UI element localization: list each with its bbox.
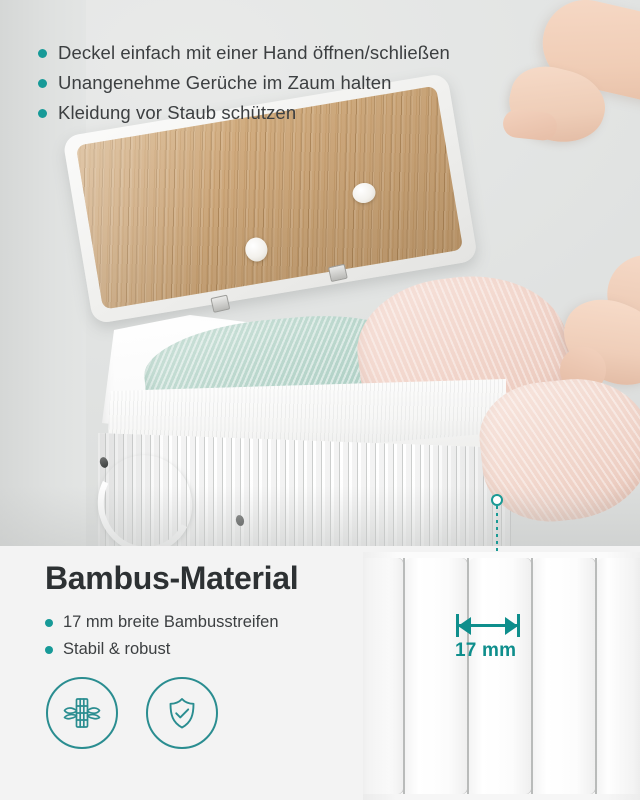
- dimension-label: 17 mm: [455, 640, 516, 662]
- bullet-item: Unangenehme Gerüche im Zaum halten: [38, 70, 558, 96]
- bullet-text: Unangenehme Gerüche im Zaum halten: [58, 70, 392, 96]
- bullet-item: Deckel einfach mit einer Hand öffnen/sch…: [38, 40, 558, 66]
- callout-marker-icon: [491, 494, 503, 506]
- arrowhead-left-icon: [458, 617, 471, 635]
- bullet-text: Kleidung vor Staub schützen: [58, 100, 296, 126]
- feature-icon-row: [46, 677, 218, 749]
- bullet-dot-icon: [38, 109, 47, 118]
- material-bullet-list: 17 mm breite Bambusstreifen Stabil & rob…: [45, 610, 355, 664]
- callout-leader-line: [496, 506, 498, 554]
- feature-bullet-list: Deckel einfach mit einer Hand öffnen/sch…: [38, 40, 558, 130]
- bullet-dot-icon: [45, 619, 53, 627]
- material-text-block: Bambus-Material 17 mm breite Bambusstrei…: [0, 546, 360, 800]
- material-info-section: Bambus-Material 17 mm breite Bambusstrei…: [0, 546, 640, 800]
- product-photo-section: Deckel einfach mit einer Hand öffnen/sch…: [0, 0, 640, 546]
- lid-hinge-left: [210, 295, 230, 313]
- bullet-item: 17 mm breite Bambusstreifen: [45, 610, 355, 635]
- arrowhead-right-icon: [505, 617, 518, 635]
- bullet-dot-icon: [38, 49, 47, 58]
- detail-edge-shading: [363, 552, 640, 800]
- bullet-item: Stabil & robust: [45, 637, 355, 662]
- product-feature-image: Deckel einfach mit einer Hand öffnen/sch…: [0, 0, 640, 800]
- bullet-text: Deckel einfach mit einer Hand öffnen/sch…: [58, 40, 450, 66]
- bullet-item: Kleidung vor Staub schützen: [38, 100, 558, 126]
- bullet-dot-icon: [38, 79, 47, 88]
- dimension-arrow: [456, 617, 520, 633]
- section-heading: Bambus-Material: [45, 560, 298, 597]
- shield-check-icon: [146, 677, 218, 749]
- bullet-dot-icon: [45, 646, 53, 654]
- bamboo-stalk-icon: [46, 677, 118, 749]
- bullet-text: Stabil & robust: [63, 637, 170, 662]
- bullet-text: 17 mm breite Bambusstreifen: [63, 610, 279, 635]
- bamboo-slat-closeup: 17 mm: [363, 552, 640, 800]
- floor-shadow: [0, 486, 640, 546]
- laundry-hamper: [96, 120, 556, 546]
